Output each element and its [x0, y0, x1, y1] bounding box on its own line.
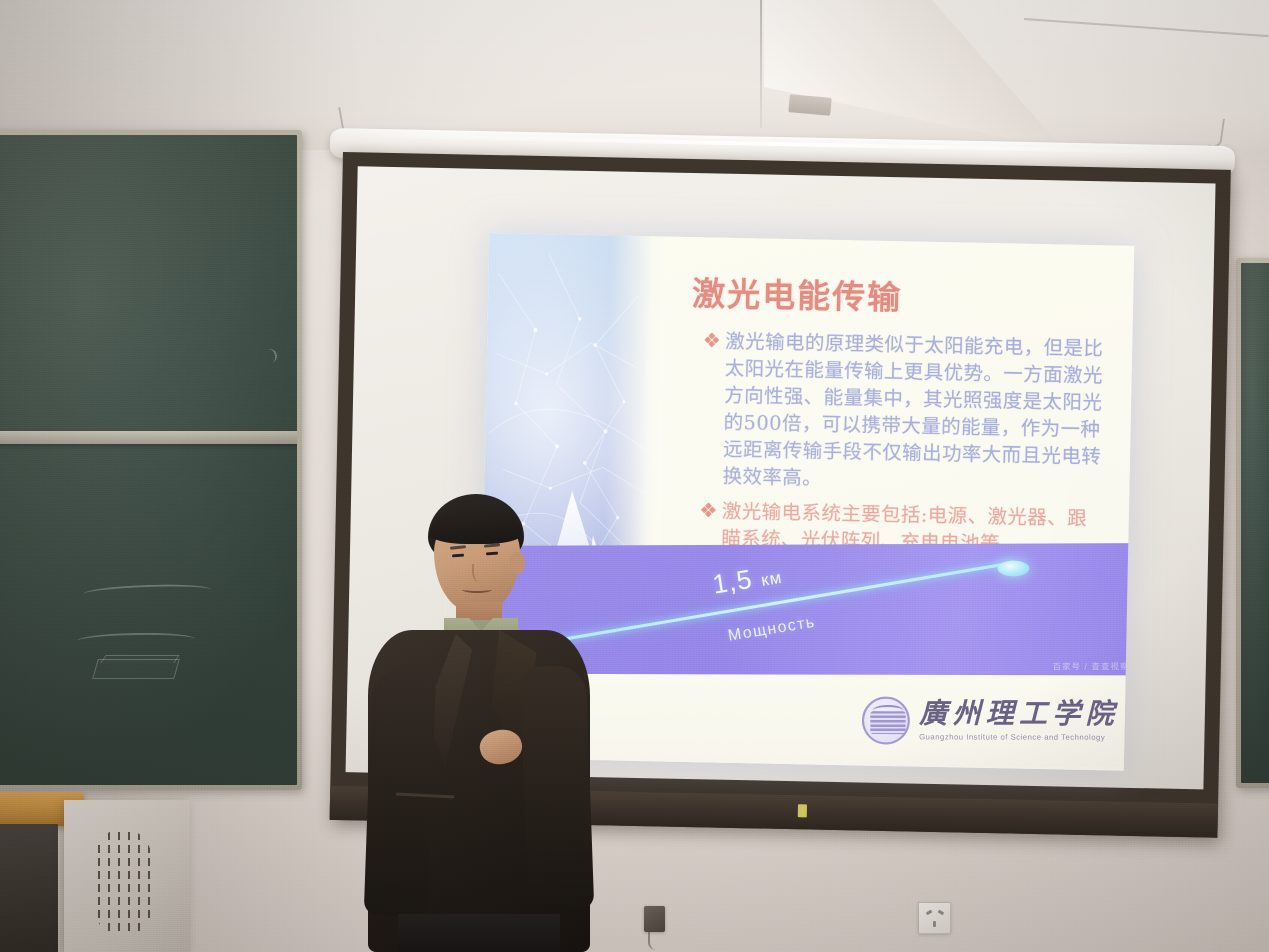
presenter-legs	[398, 914, 560, 952]
chalkboard-left	[0, 130, 302, 790]
socket-slot	[926, 910, 932, 915]
list-item: 激光输电的原理类似于太阳能充电，但是比太阳光在能量传输上更具优势。一方面激光方向…	[702, 327, 1109, 497]
presenter-ear	[510, 552, 525, 574]
chalk-box-top	[100, 655, 179, 663]
screen-tab-yellow	[798, 804, 807, 817]
chalkboard-divider	[0, 431, 297, 444]
presenter-nose	[472, 564, 483, 582]
wall-av-port[interactable]	[644, 906, 665, 932]
bullet-text: 激光输电的原理类似于太阳能充电，但是比太阳光在能量传输上更具优势。一方面激光方向…	[722, 328, 1109, 498]
seal-building	[870, 711, 905, 734]
chalk-mark	[261, 347, 278, 364]
chalk-mark	[83, 583, 211, 601]
distance-unit: км	[760, 569, 784, 590]
port-cable	[648, 930, 662, 950]
university-name-block: 廣州理工学院 Guangzhou Institute of Science an…	[919, 700, 1119, 741]
socket-slot	[938, 910, 944, 915]
distance-value: 1,5	[711, 564, 755, 600]
diamond-cluster-icon	[702, 503, 715, 516]
university-seal-icon	[862, 697, 910, 745]
lecture-hall-photo: 激光电能传输 激光输电的原理类似于太阳能充电，但是比太阳光在能量传输上更具优势。…	[0, 0, 1269, 952]
ceiling-mount-tab	[788, 94, 831, 116]
chalk-box-sketch	[92, 659, 180, 679]
presenter-mouth	[462, 586, 492, 593]
presenter-arm-right	[520, 665, 594, 911]
power-label: Мощность	[727, 613, 817, 645]
socket-slot	[933, 921, 936, 927]
presenter	[352, 494, 602, 952]
university-name-cn: 廣州理工学院	[919, 700, 1119, 730]
distance-label: 1,5 км	[711, 560, 785, 602]
lectern-body	[0, 824, 58, 952]
figure-watermark: 百家号 / 查查视察	[1052, 661, 1129, 673]
laser-receiver-icon	[998, 560, 1030, 576]
chalkboard-right	[1236, 258, 1269, 788]
speaker-grille-icon	[92, 828, 154, 938]
wall-power-outlet[interactable]	[918, 902, 951, 934]
wall-speaker	[64, 800, 190, 952]
chalk-mark	[77, 632, 195, 648]
slide-title: 激光电能传输	[692, 267, 903, 319]
university-name-en: Guangzhou Institute of Science and Techn…	[919, 732, 1105, 742]
chalkboard-surface-right	[1241, 263, 1269, 783]
diamond-cluster-icon	[705, 333, 718, 346]
chalkboard-surface	[0, 135, 297, 785]
slide-bullet-list: 激光输电的原理类似于太阳能充电，但是比太阳光在能量传输上更具优势。一方面激光方向…	[701, 327, 1110, 567]
ceiling-seam	[760, 0, 762, 128]
